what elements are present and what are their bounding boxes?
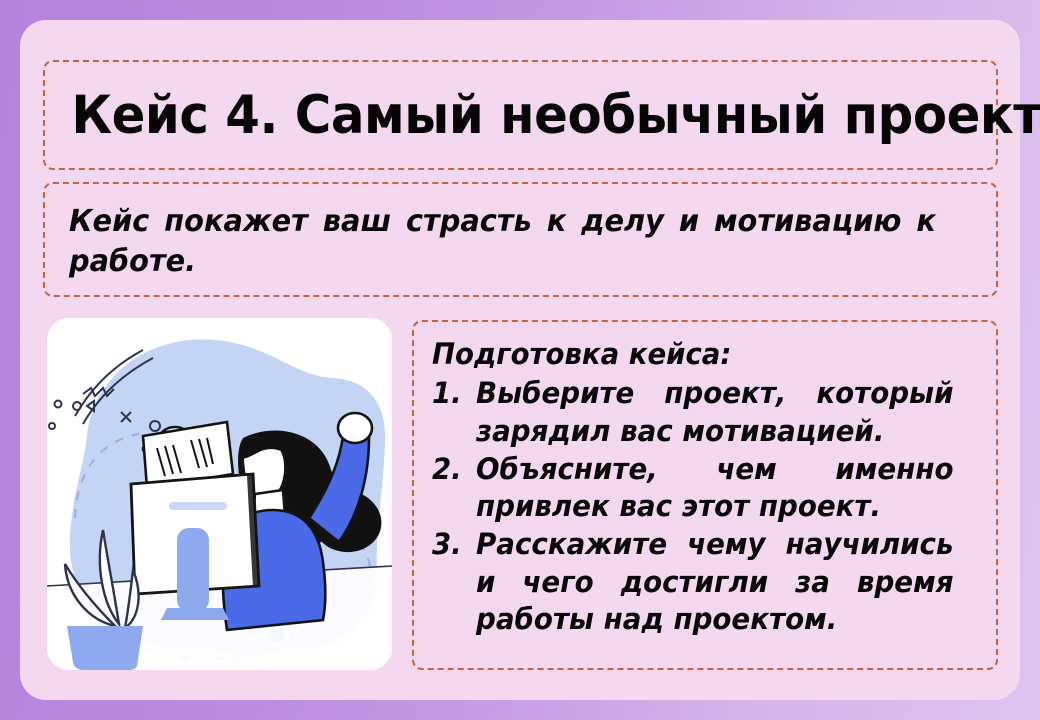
monitor-stand-base bbox=[161, 608, 229, 620]
content-area: Подготовка кейса: 1. Выберите проект, ко… bbox=[20, 318, 1020, 690]
page-title: Кейс 4. Самый необычный проект bbox=[45, 85, 1040, 146]
list-item-number: 2. bbox=[432, 451, 474, 489]
list-item-text: Расскажите чему научились и чего достигл… bbox=[476, 526, 954, 639]
right-fist bbox=[338, 413, 372, 443]
list-item-number: 3. bbox=[432, 526, 474, 564]
subtitle-box: Кейс покажет ваш страсть к делу и мотива… bbox=[43, 182, 998, 297]
preparation-box: Подготовка кейса: 1. Выберите проект, ко… bbox=[412, 320, 998, 670]
preparation-heading: Подготовка кейса: bbox=[432, 338, 949, 371]
slide-card: Кейс 4. Самый необычный проект Кейс пока… bbox=[20, 20, 1020, 700]
preparation-item: 2. Объясните, чем именно привлек вас это… bbox=[432, 451, 976, 526]
title-box: Кейс 4. Самый необычный проект bbox=[43, 60, 998, 170]
list-item-text: Выберите проект, который зарядил вас мот… bbox=[476, 375, 954, 450]
illustration-card bbox=[47, 318, 392, 670]
list-item-number: 1. bbox=[432, 375, 474, 413]
preparation-item: 1. Выберите проект, который зарядил вас … bbox=[432, 375, 976, 450]
monitor-ui-bar bbox=[169, 502, 227, 510]
list-item-text: Объясните, чем именно привлек вас этот п… bbox=[476, 451, 954, 526]
subtitle-text: Кейс покажет ваш страсть к делу и мотива… bbox=[69, 202, 936, 281]
preparation-item: 3. Расскажите чему научились и чего дост… bbox=[432, 526, 976, 639]
monitor-stand-neck bbox=[177, 528, 209, 612]
celebrating-person-illustration-icon bbox=[47, 318, 392, 670]
